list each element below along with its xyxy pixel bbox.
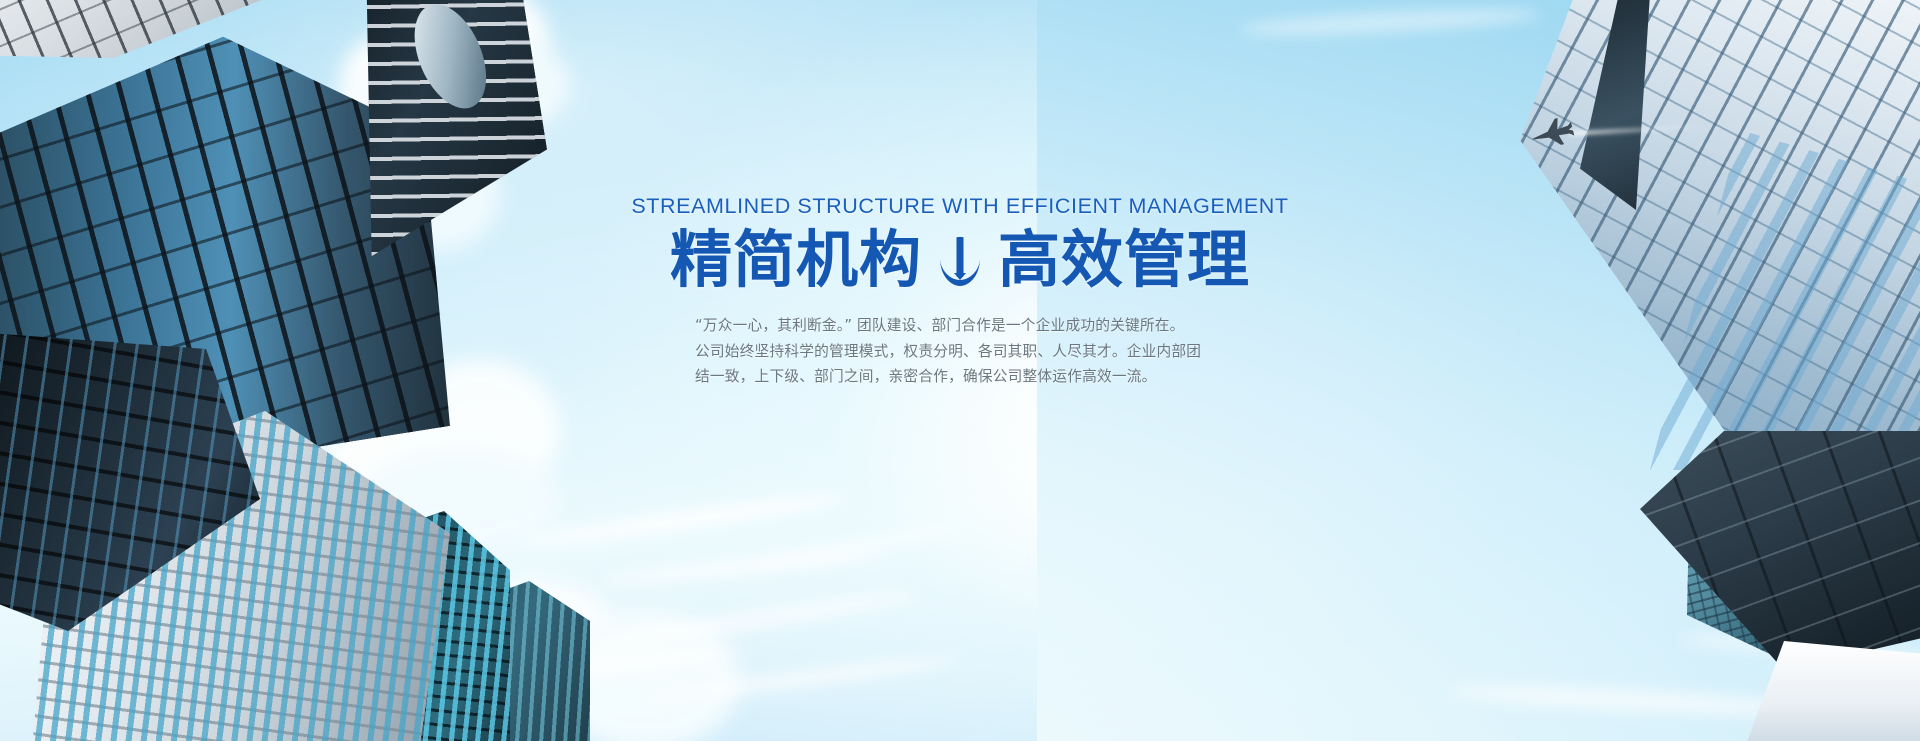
hero-headline: 精简机构 高效管理 [0, 227, 1920, 294]
building-lower-left-city-block [0, 331, 580, 741]
hero-eyebrow: STREAMLINED STRUCTURE WITH EFFICIENT MAN… [0, 196, 1920, 218]
company-logo-mark-icon [935, 235, 985, 291]
br-white-underside [1740, 641, 1920, 741]
hero-copy: STREAMLINED STRUCTURE WITH EFFICIENT MAN… [0, 196, 1920, 389]
hero-banner: STREAMLINED STRUCTURE WITH EFFICIENT MAN… [0, 0, 1920, 741]
paragraph-line: “万众一心，其利断金。” 团队建设、部门合作是一个企业成功的关键所在。 [695, 313, 1225, 338]
headline-right-phrase: 高效管理 [998, 227, 1250, 294]
paragraph-line: 公司始终坚持科学的管理模式，权责分明、各司其职、人尽其才。企业内部团 [695, 339, 1225, 364]
headline-left-phrase: 精简机构 [670, 227, 922, 294]
hero-paragraph: “万众一心，其利断金。” 团队建设、部门合作是一个企业成功的关键所在。 公司始终… [695, 313, 1225, 389]
paragraph-line: 结一致，上下级、部门之间，亲密合作，确保公司整体运作高效一流。 [695, 364, 1225, 389]
building-bottom-right-slab [1610, 431, 1920, 741]
